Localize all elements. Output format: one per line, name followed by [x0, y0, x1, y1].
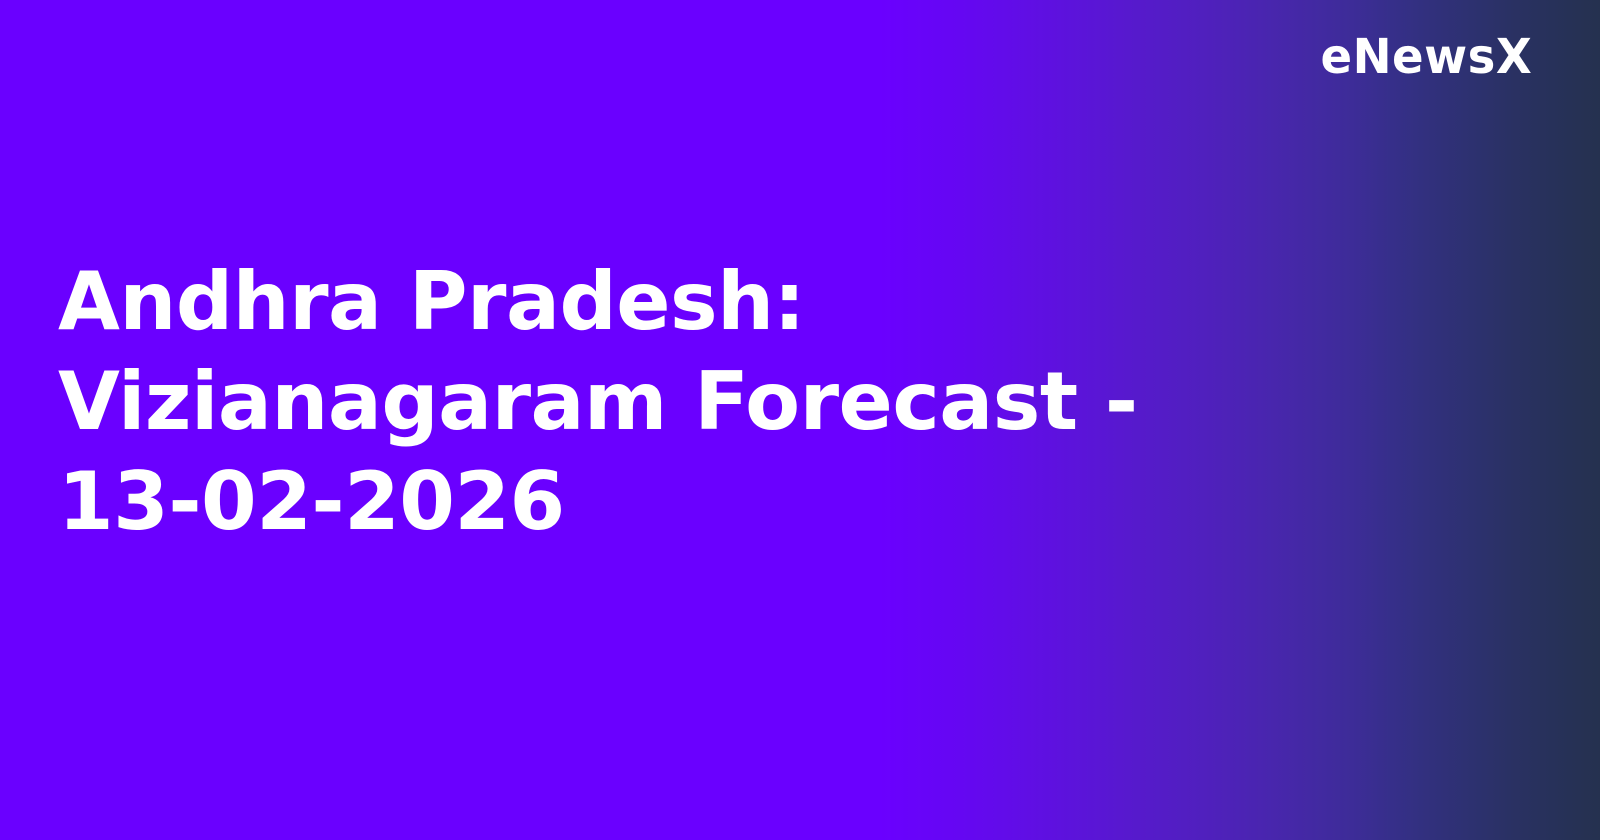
headline-title: Andhra Pradesh: Vizianagaram Forecast - … [58, 252, 1268, 552]
news-card: eNewsX Andhra Pradesh: Vizianagaram Fore… [0, 0, 1600, 840]
brand-logo-enewsx[interactable]: eNewsX [1320, 33, 1532, 81]
